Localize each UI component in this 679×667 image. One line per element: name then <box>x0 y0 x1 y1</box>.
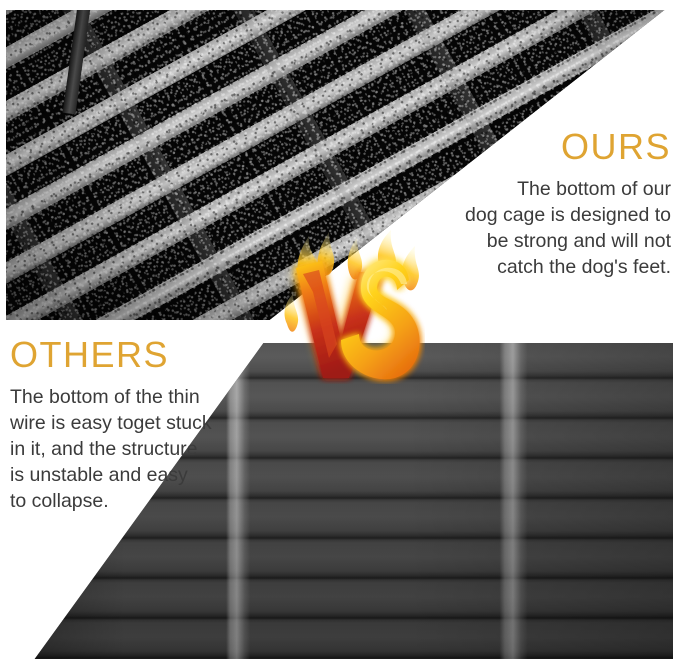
versus-flame-graphic <box>279 228 425 384</box>
others-description: The bottom of the thin wire is easy toge… <box>10 385 280 515</box>
others-heading: OTHERS <box>10 336 280 375</box>
others-text-block: OTHERS The bottom of the thin wire is ea… <box>10 336 280 514</box>
versus-flame-svg <box>279 228 425 384</box>
ours-heading: OURS <box>341 128 671 167</box>
comparison-poster: OURS The bottom of our dog cage is desig… <box>0 0 679 667</box>
